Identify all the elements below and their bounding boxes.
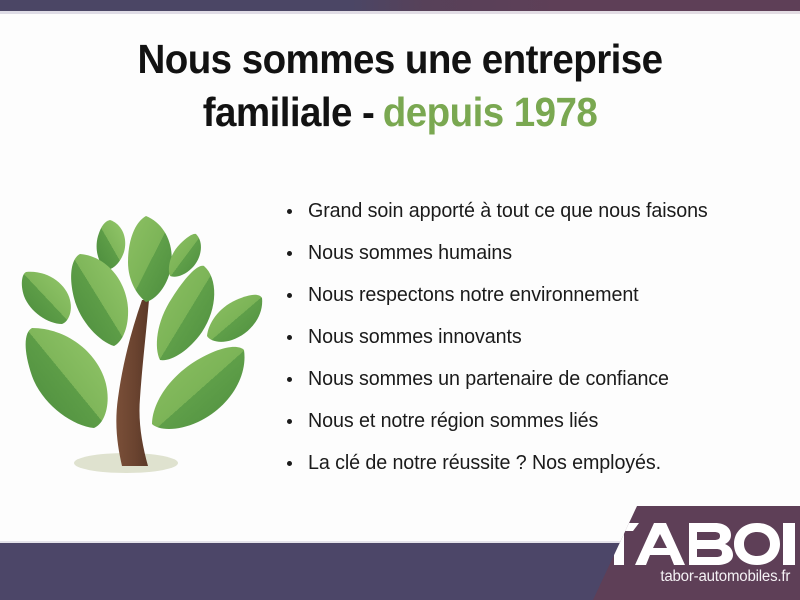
top-accent-hairline xyxy=(0,11,800,14)
bullet-dot-icon xyxy=(287,251,292,256)
bullet-dot-icon xyxy=(287,377,292,382)
list-item: Nous et notre région sommes liés xyxy=(284,400,784,442)
tabor-logo-wordmark xyxy=(599,523,795,565)
list-item-label: La clé de notre réussite ? Nos employés. xyxy=(308,451,661,475)
top-accent-bar xyxy=(0,0,800,11)
list-item: Nous respectons notre environnement xyxy=(284,274,784,316)
page-title-line-2: familiale -depuis 1978 xyxy=(24,86,776,139)
tree-illustration xyxy=(18,182,270,482)
list-item-label: Grand soin apporté à tout ce que nous fa… xyxy=(308,199,708,223)
page-title: Nous sommes une entreprise familiale -de… xyxy=(24,33,776,139)
list-item-label: Nous sommes innovants xyxy=(308,325,522,349)
page-title-line-2-plain: familiale - xyxy=(203,89,375,135)
page-title-accent: depuis 1978 xyxy=(383,89,597,135)
bullet-dot-icon xyxy=(287,293,292,298)
list-item: Nous sommes un partenaire de confiance xyxy=(284,358,784,400)
bullet-dot-icon xyxy=(287,461,292,466)
page-title-line-1: Nous sommes une entreprise xyxy=(24,33,776,86)
list-item: La clé de notre réussite ? Nos employés. xyxy=(284,442,784,484)
list-item-label: Nous sommes humains xyxy=(308,241,512,265)
list-item-label: Nous sommes un partenaire de confiance xyxy=(308,367,669,391)
value-bullet-list: Grand soin apporté à tout ce que nous fa… xyxy=(284,190,784,484)
list-item: Grand soin apporté à tout ce que nous fa… xyxy=(284,190,784,232)
bullet-dot-icon xyxy=(287,335,292,340)
bullet-dot-icon xyxy=(287,209,292,214)
slide-canvas: Nous sommes une entreprise familiale -de… xyxy=(0,0,800,600)
list-item: Nous sommes humains xyxy=(284,232,784,274)
list-item-label: Nous respectons notre environnement xyxy=(308,283,639,307)
bullet-dot-icon xyxy=(287,419,292,424)
list-item-label: Nous et notre région sommes liés xyxy=(308,409,598,433)
list-item: Nous sommes innovants xyxy=(284,316,784,358)
